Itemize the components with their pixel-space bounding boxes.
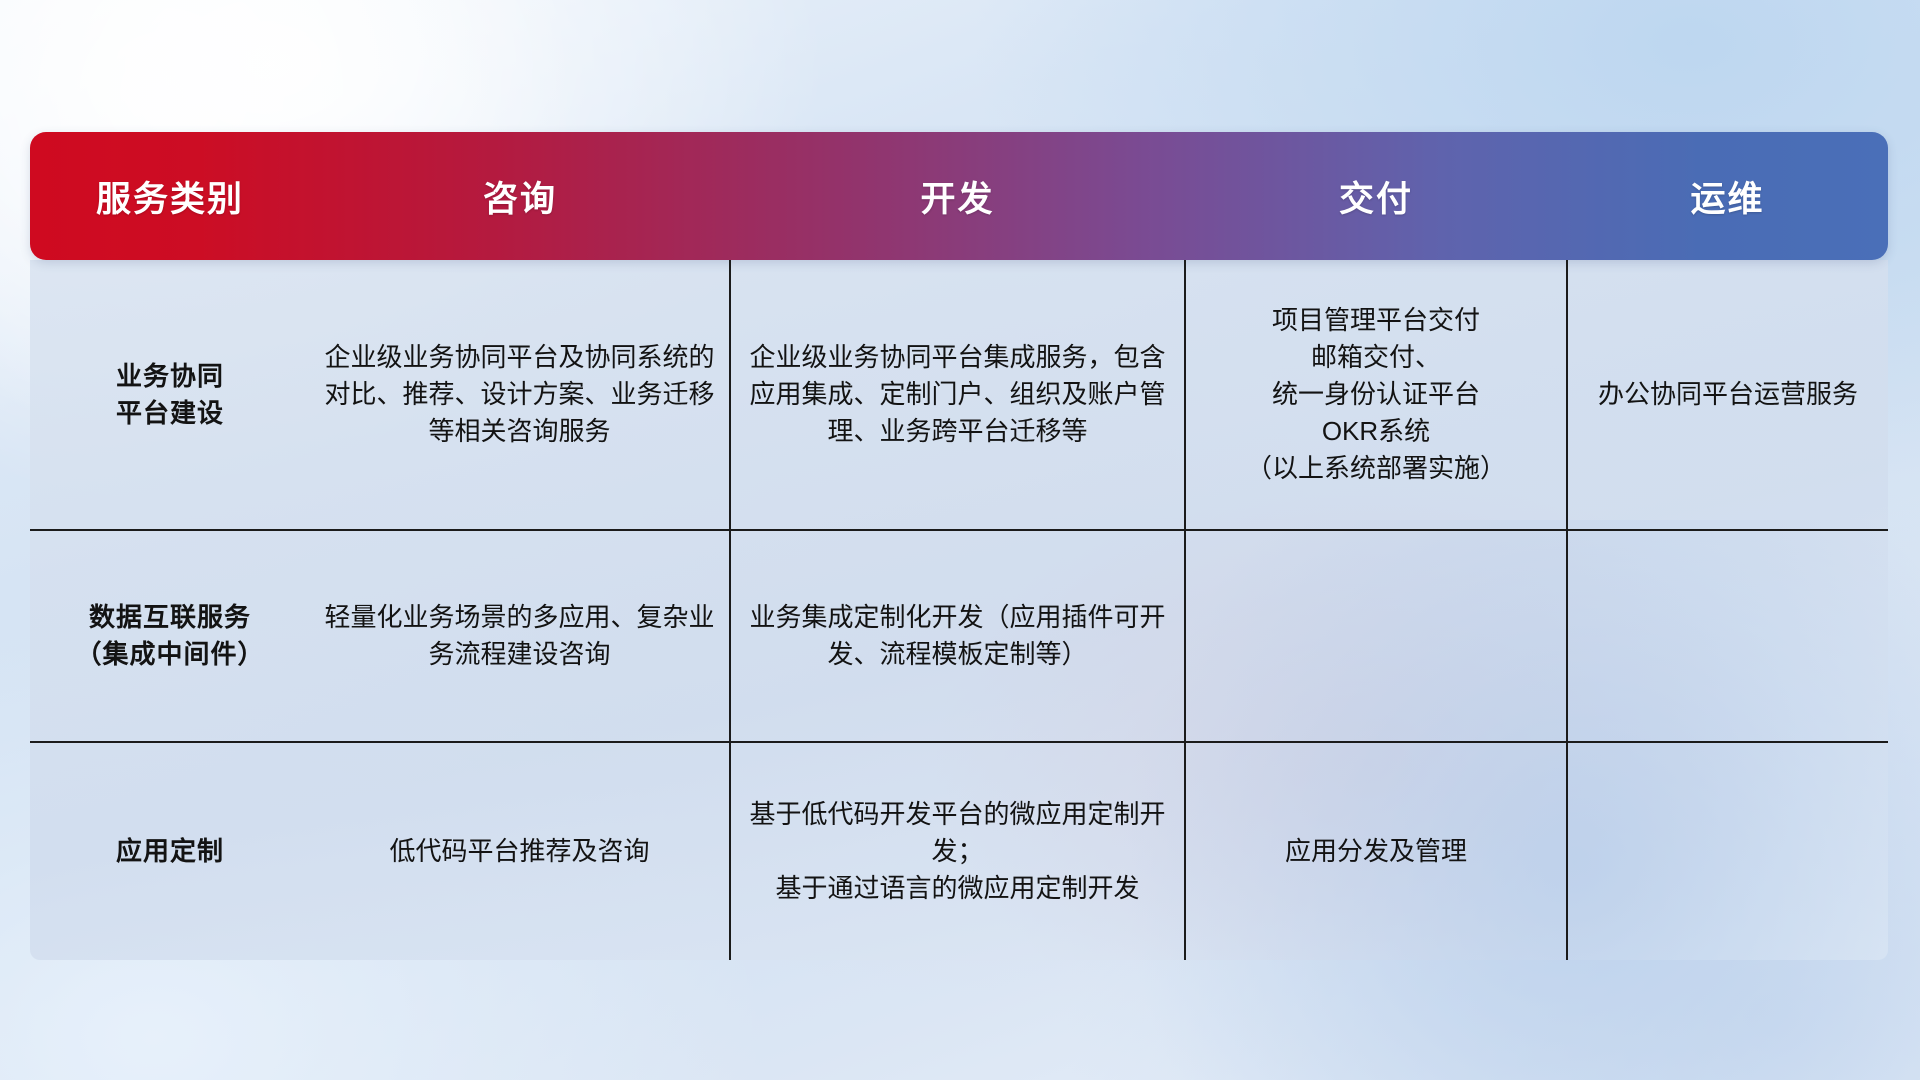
- row-category-data-interconnect: 数据互联服务 （集成中间件）: [30, 530, 310, 742]
- table-row: 数据互联服务 （集成中间件） 轻量化业务场景的多应用、复杂业务流程建设咨询 业务…: [30, 530, 1888, 742]
- table-body: 业务协同 平台建设 企业级业务协同平台及协同系统的对比、推荐、设计方案、业务迁移…: [30, 260, 1888, 960]
- cell-r1-consulting: 企业级业务协同平台及协同系统的对比、推荐、设计方案、业务迁移等相关咨询服务: [310, 260, 730, 530]
- table-row: 应用定制 低代码平台推荐及咨询 基于低代码开发平台的微应用定制开发； 基于通过语…: [30, 742, 1888, 960]
- cell-r2-development: 业务集成定制化开发（应用插件可开发、流程模板定制等）: [730, 530, 1185, 742]
- cell-r1-delivery: 项目管理平台交付 邮箱交付、 统一身份认证平台 OKR系统 （以上系统部署实施）: [1185, 260, 1567, 530]
- cell-r3-consulting: 低代码平台推荐及咨询: [310, 742, 730, 960]
- table-row: 业务协同 平台建设 企业级业务协同平台及协同系统的对比、推荐、设计方案、业务迁移…: [30, 260, 1888, 530]
- column-header-delivery: 交付: [1185, 132, 1567, 260]
- table-body-panel: 业务协同 平台建设 企业级业务协同平台及协同系统的对比、推荐、设计方案、业务迁移…: [30, 260, 1888, 960]
- service-matrix-table: 服务类别 咨询 开发 交付 运维 业务协同 平台建设 企业级业务协同平台: [30, 132, 1888, 960]
- row-category-business-collaboration: 业务协同 平台建设: [30, 260, 310, 530]
- column-header-development: 开发: [730, 132, 1185, 260]
- cell-r3-delivery: 应用分发及管理: [1185, 742, 1567, 960]
- cell-r2-delivery: [1185, 530, 1567, 742]
- row-category-app-customization: 应用定制: [30, 742, 310, 960]
- slide-canvas: 服务类别 咨询 开发 交付 运维 业务协同 平台建设 企业级业务协同平台: [0, 0, 1920, 1080]
- column-header-consulting: 咨询: [310, 132, 730, 260]
- column-header-operations: 运维: [1567, 132, 1888, 260]
- column-header-category: 服务类别: [30, 132, 310, 260]
- cell-r1-operations: 办公协同平台运营服务: [1567, 260, 1888, 530]
- cell-r2-consulting: 轻量化业务场景的多应用、复杂业务流程建设咨询: [310, 530, 730, 742]
- cell-r1-development: 企业级业务协同平台集成服务，包含应用集成、定制门户、组织及账户管理、业务跨平台迁…: [730, 260, 1185, 530]
- cell-r2-operations: [1567, 530, 1888, 742]
- cell-r3-operations: [1567, 742, 1888, 960]
- cell-r3-development: 基于低代码开发平台的微应用定制开发； 基于通过语言的微应用定制开发: [730, 742, 1185, 960]
- table-header-labels: 服务类别 咨询 开发 交付 运维: [30, 132, 1888, 260]
